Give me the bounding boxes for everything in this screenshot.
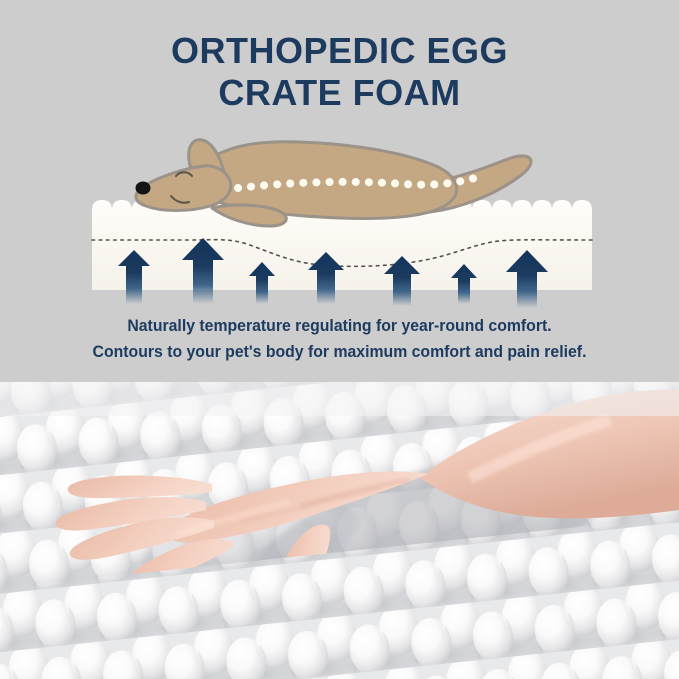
- foam-support-illustration: [0, 126, 679, 308]
- page-title-line-1: ORTHOPEDIC EGG: [0, 30, 679, 72]
- benefits-text: Naturally temperature regulating for yea…: [0, 313, 679, 365]
- infographic-top-panel: ORTHOPEDIC EGG CRATE FOAM: [0, 0, 679, 382]
- page-title: ORTHOPEDIC EGG CRATE FOAM: [0, 30, 679, 114]
- page-title-line-2: CRATE FOAM: [0, 72, 679, 114]
- egg-crate-foam-photo: [0, 382, 679, 679]
- product-infographic: ORTHOPEDIC EGG CRATE FOAM: [0, 0, 679, 679]
- foam-photo-panel: [0, 382, 679, 679]
- benefit-line-1: Naturally temperature regulating for yea…: [24, 313, 655, 339]
- benefit-line-2: Contours to your pet's body for maximum …: [24, 339, 655, 365]
- dog-nose: [136, 182, 151, 195]
